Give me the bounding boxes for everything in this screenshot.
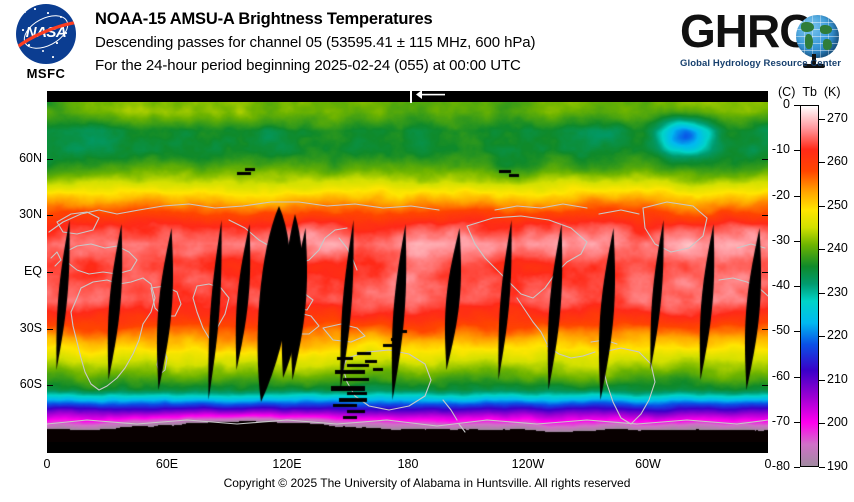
nasa-insignia-icon: NASA [16, 4, 76, 64]
colorbar-tick-k [819, 423, 825, 424]
mouse-pointer-icon [410, 86, 446, 103]
ghrc-globe-icon [796, 15, 839, 58]
colorbar-label-celsius: -10 [760, 142, 790, 156]
page-header: NASA MSFC NOAA-15 AMSU-A Brightness Temp… [0, 0, 854, 88]
colorbar-gradient[interactable] [800, 105, 819, 467]
y-axis-label: EQ [0, 264, 42, 278]
y-tick [762, 385, 768, 386]
colorbar-label-celsius: -50 [760, 323, 790, 337]
nasa-swoosh-icon [16, 21, 76, 51]
y-tick [762, 159, 768, 160]
colorbar-label-kelvin: 270 [827, 111, 848, 125]
colorbar-label-kelvin: 200 [827, 415, 848, 429]
colorbar-tick-k [819, 336, 825, 337]
y-tick [47, 329, 53, 330]
colorbar-tick-k [819, 119, 825, 120]
x-axis-label: 60E [137, 457, 197, 471]
colorbar-label-celsius: -20 [760, 188, 790, 202]
swath-gap-raster [47, 102, 768, 442]
y-tick [47, 272, 53, 273]
page-subtitle-period: For the 24-hour period beginning 2025-02… [95, 54, 655, 77]
colorbar-label-celsius: -30 [760, 233, 790, 247]
x-tick [528, 447, 529, 453]
colorbar-tick-c [794, 241, 800, 242]
colorbar-tick-c [794, 467, 800, 468]
colorbar-label-celsius: -80 [760, 459, 790, 473]
nasa-center-label: MSFC [8, 66, 84, 81]
colorbar-label-celsius: -60 [760, 369, 790, 383]
colorbar-label-kelvin: 240 [827, 241, 848, 255]
y-axis-label: 30N [0, 207, 42, 221]
y-axis-label: 60N [0, 151, 42, 165]
colorbar-tick-k [819, 162, 825, 163]
colorbar-tick-k [819, 467, 825, 468]
colorbar-tick-c [794, 286, 800, 287]
x-tick [287, 91, 288, 97]
colorbar-tick-k [819, 249, 825, 250]
ghrc-tagline: Global Hydrology Resource Center [680, 58, 844, 69]
x-tick [287, 447, 288, 453]
colorbar-label-kelvin: 210 [827, 372, 848, 386]
colorbar-label-kelvin: 190 [827, 459, 848, 473]
colorbar-tick-c [794, 422, 800, 423]
title-block: NOAA-15 AMSU-A Brightness Temperatures D… [95, 8, 655, 77]
colorbar-label-kelvin: 260 [827, 154, 848, 168]
y-tick [47, 215, 53, 216]
map-plot-area[interactable] [47, 91, 768, 453]
copyright-notice: Copyright © 2025 The University of Alaba… [0, 476, 854, 490]
ghrc-wordmark: GHRC [680, 6, 811, 56]
colorbar-tick-c [794, 196, 800, 197]
nasa-logo: NASA MSFC [8, 4, 84, 88]
colorbar-tick-c [794, 150, 800, 151]
x-tick [167, 447, 168, 453]
y-axis-label: 30S [0, 321, 42, 335]
page-subtitle-channel: Descending passes for channel 05 (53595.… [95, 31, 655, 54]
colorbar-label-celsius: -70 [760, 414, 790, 428]
x-axis-label: 0 [17, 457, 77, 471]
colorbar-label-kelvin: 220 [827, 328, 848, 342]
x-tick [767, 447, 768, 453]
colorbar-tick-k [819, 293, 825, 294]
y-tick [47, 385, 53, 386]
x-tick [167, 91, 168, 97]
x-axis-label: 180 [378, 457, 438, 471]
y-tick [47, 159, 53, 160]
colorbar-tick-c [794, 105, 800, 106]
colorbar-label-celsius: 0 [760, 97, 790, 111]
colorbar-label-kelvin: 250 [827, 198, 848, 212]
ghrc-logo: GHRC Global Hydrology Resource Center [676, 6, 848, 78]
x-tick [648, 91, 649, 97]
brightness-temperature-map[interactable] [47, 102, 768, 442]
x-tick [47, 447, 48, 453]
page-title: NOAA-15 AMSU-A Brightness Temperatures [95, 8, 655, 31]
x-tick [47, 91, 48, 97]
x-tick [528, 91, 529, 97]
x-axis-label: 120E [257, 457, 317, 471]
x-axis-label: 60W [618, 457, 678, 471]
colorbar-unit-kelvin: (K) [824, 85, 841, 99]
y-tick [762, 215, 768, 216]
x-tick [648, 447, 649, 453]
colorbar-tick-k [819, 380, 825, 381]
colorbar-tick-k [819, 206, 825, 207]
y-axis-label: 60S [0, 377, 42, 391]
x-tick [408, 447, 409, 453]
colorbar-tick-c [794, 377, 800, 378]
colorbar-label-kelvin: 230 [827, 285, 848, 299]
x-tick [408, 91, 409, 97]
x-axis-label: 120W [498, 457, 558, 471]
colorbar-tick-c [794, 331, 800, 332]
colorbar-label-celsius: -40 [760, 278, 790, 292]
y-tick [762, 272, 768, 273]
colorbar-quantity: Tb [802, 85, 817, 99]
